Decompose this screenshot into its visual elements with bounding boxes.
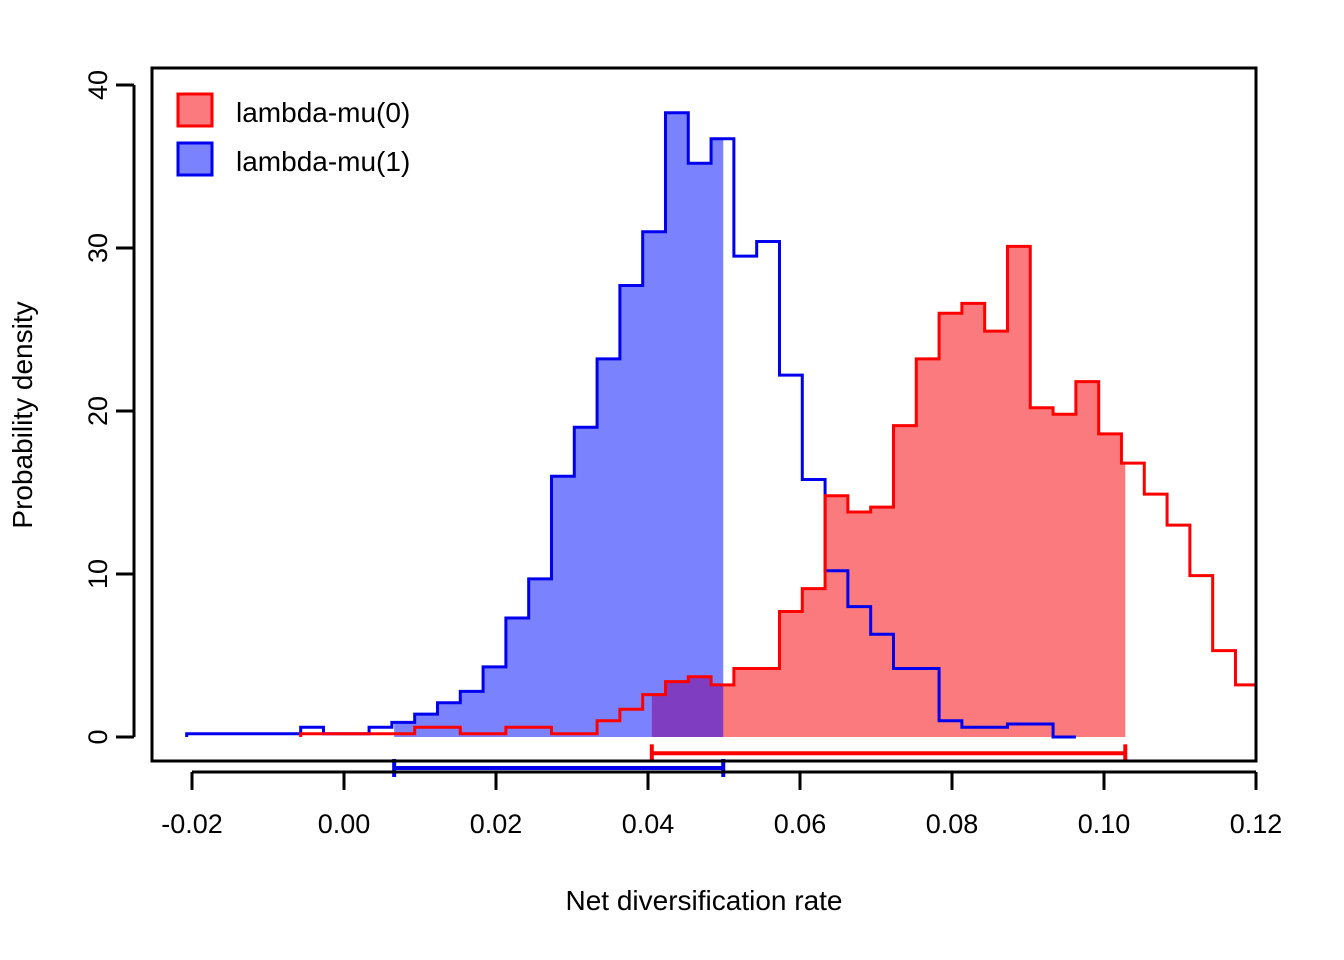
legend-swatch-icon [178,143,212,175]
x-tick-label: 0.04 [622,809,675,839]
y-tick-label: 40 [83,70,113,100]
legend-item-lambda-mu-1: lambda-mu(1) [178,143,410,177]
x-tick-label: 0.10 [1078,809,1131,839]
histogram-plot: -0.020.000.020.040.060.080.100.12 010203… [0,0,1344,960]
x-tick-label: 0.06 [774,809,827,839]
y-tick-label: 30 [83,233,113,263]
legend-label: lambda-mu(0) [236,97,410,128]
y-tick-label: 20 [83,396,113,426]
x-tick-label: -0.02 [161,809,223,839]
y-axis-title: Probability density [7,301,38,528]
x-tick-label: 0.08 [926,809,979,839]
x-tick-label: 0.02 [470,809,523,839]
y-tick-label: 10 [83,559,113,589]
legend-swatch-icon [178,94,212,126]
y-tick-label: 0 [83,729,113,744]
legend-label: lambda-mu(1) [236,146,410,177]
x-axis-title: Net diversification rate [565,885,842,916]
legend-item-lambda-mu-0: lambda-mu(0) [178,94,410,128]
x-tick-label: 0.00 [318,809,371,839]
chart-canvas: -0.020.000.020.040.060.080.100.12 010203… [0,0,1344,960]
x-tick-label: 0.12 [1230,809,1283,839]
